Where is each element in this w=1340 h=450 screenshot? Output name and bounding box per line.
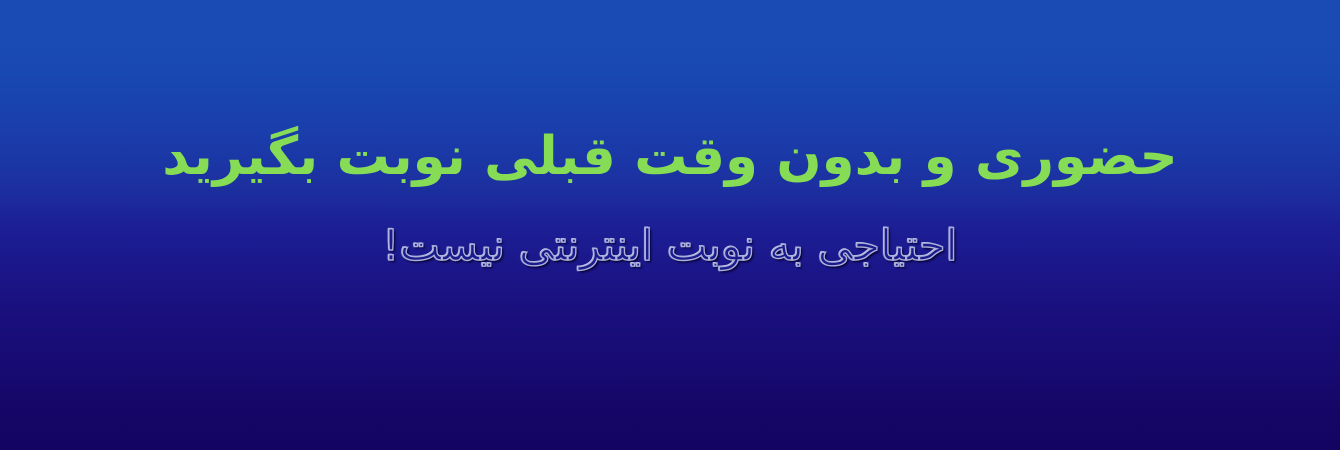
promo-banner: حضوری و بدون وقت قبلی نوبت بگیرید احتیاج… xyxy=(0,0,1340,450)
banner-subtitle: احتیاجی به نوبت اینترنتی نیست! xyxy=(382,221,957,273)
banner-subtitle-container: احتیاجی به نوبت اینترنتی نیست! xyxy=(382,215,957,279)
banner-headline: حضوری و بدون وقت قبلی نوبت بگیرید xyxy=(162,126,1177,189)
banner-text-stack: حضوری و بدون وقت قبلی نوبت بگیرید احتیاج… xyxy=(0,126,1340,279)
